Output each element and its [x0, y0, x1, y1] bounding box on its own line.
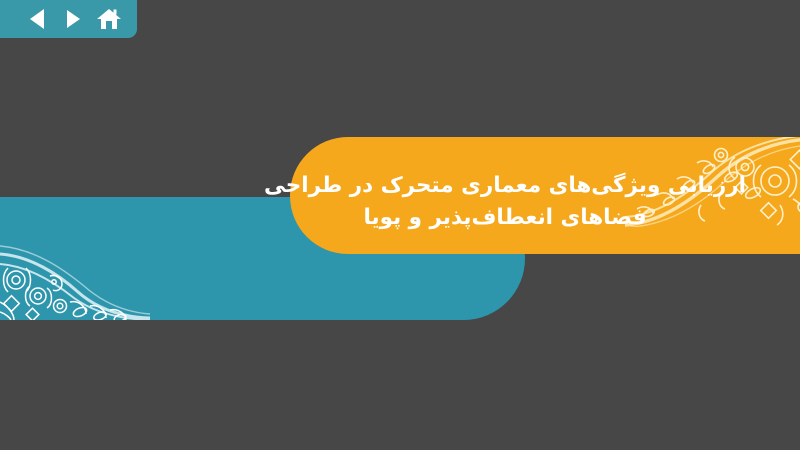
slide-title-line-2: فضاهای انعطاف‌پذیر و پویا	[363, 202, 646, 234]
home-slide-button[interactable]	[92, 4, 126, 34]
home-icon	[96, 7, 122, 31]
slide-title: ارزیابی ویژگی‌های معماری متحرک در طراحی …	[290, 137, 720, 254]
next-slide-button[interactable]	[56, 4, 90, 34]
slide-navigation-toolbar[interactable]	[0, 0, 137, 38]
presentation-slide: ارزیابی ویژگی‌های معماری متحرک در طراحی …	[0, 0, 800, 450]
triangle-left-icon	[27, 8, 47, 30]
previous-slide-button[interactable]	[20, 4, 54, 34]
triangle-right-icon	[63, 8, 83, 30]
slide-title-line-1: ارزیابی ویژگی‌های معماری متحرک در طراحی	[264, 170, 746, 202]
